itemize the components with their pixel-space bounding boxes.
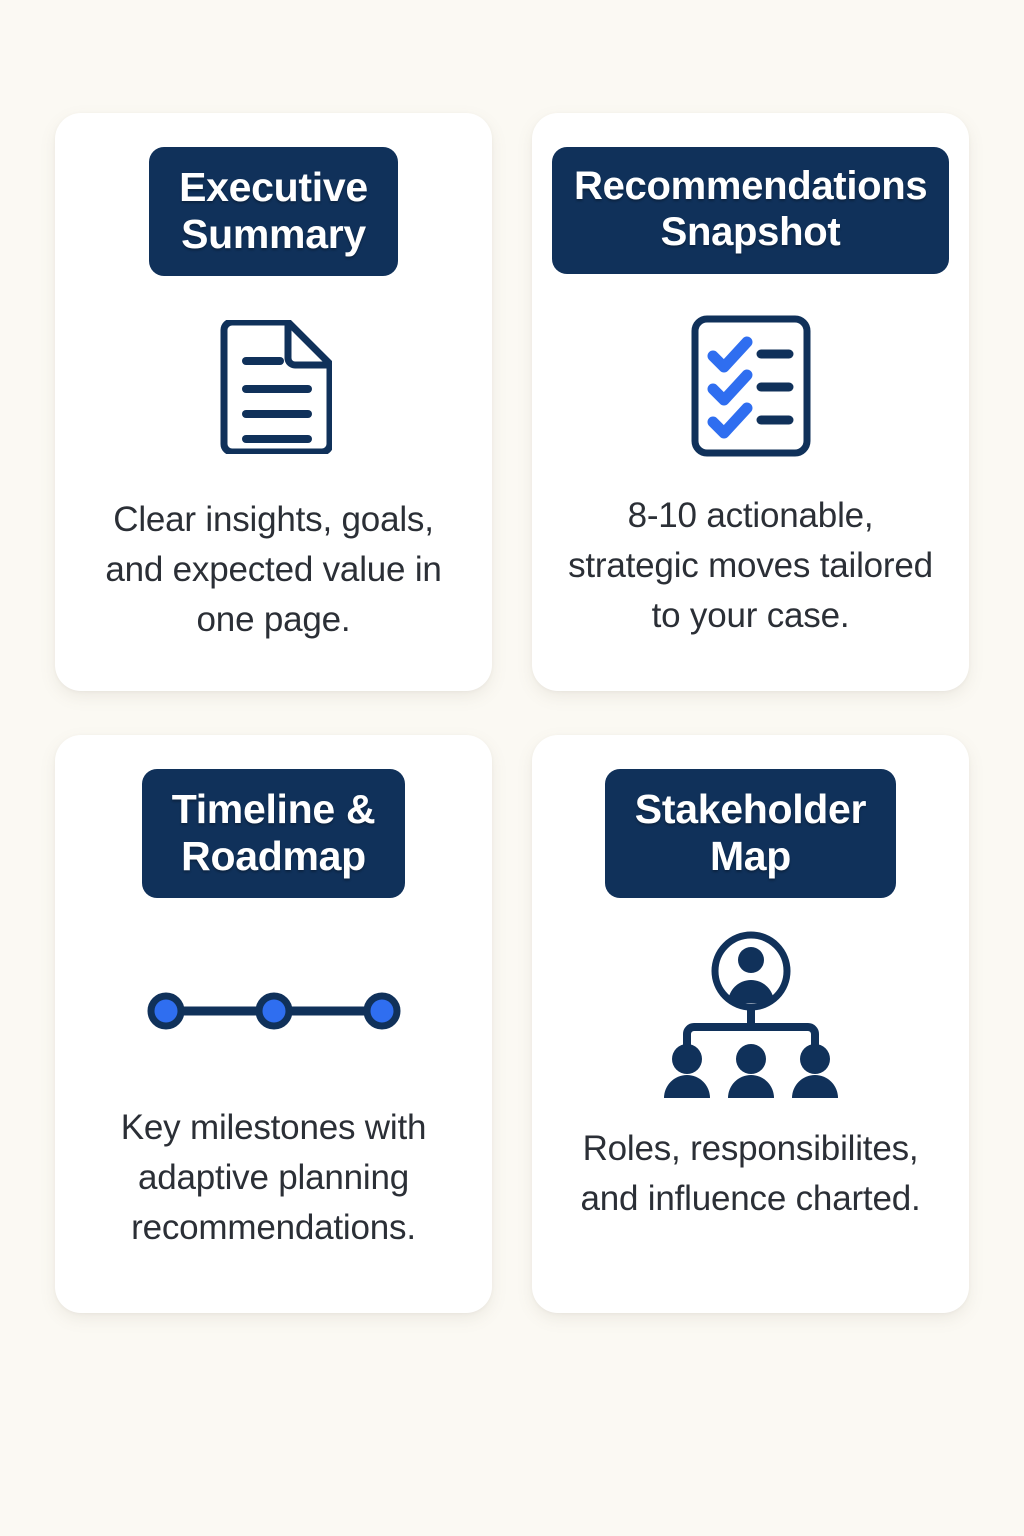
document-icon [216, 320, 332, 454]
card-title-badge-executive-summary: Executive Summary [149, 147, 398, 276]
card-title-line-1: Stakeholder [635, 786, 866, 832]
card-description-executive-summary: Clear insights, goals, and expected valu… [75, 495, 472, 644]
timeline-icon [146, 991, 402, 1031]
card-title-line-1: Executive [179, 164, 368, 210]
card-title-badge-recommendations-snapshot: Recommendations Snapshot [552, 147, 949, 274]
card-title-line-1: Timeline & [172, 786, 376, 832]
card-stakeholder-map[interactable]: Stakeholder Map Roles, responsibilites, … [532, 735, 969, 1313]
org-chart-icon [656, 931, 846, 1098]
card-title-badge-stakeholder-map: Stakeholder Map [605, 769, 896, 898]
card-title-badge-timeline-roadmap: Timeline & Roadmap [142, 769, 406, 898]
card-recommendations-snapshot[interactable]: Recommendations Snapshot 8-10 actionable… [532, 113, 969, 691]
card-title-line-2: Summary [181, 211, 366, 257]
card-title-line-2: Snapshot [661, 210, 841, 254]
card-grid: Executive Summary Clear insights, goals,… [0, 0, 1024, 1536]
card-description-recommendations-snapshot: 8-10 actionable, strategic moves tailore… [552, 491, 949, 640]
card-description-stakeholder-map: Roles, responsibilites, and influence ch… [552, 1124, 949, 1223]
card-title-line-2: Map [710, 833, 791, 879]
card-description-timeline-roadmap: Key milestones with adaptive planning re… [75, 1103, 472, 1252]
checklist-icon [691, 315, 811, 457]
card-timeline-roadmap[interactable]: Timeline & Roadmap Key milestones with a… [55, 735, 492, 1313]
card-executive-summary[interactable]: Executive Summary Clear insights, goals,… [55, 113, 492, 691]
card-title-line-2: Roadmap [181, 833, 366, 879]
card-title-line-1: Recommendations [574, 164, 927, 208]
